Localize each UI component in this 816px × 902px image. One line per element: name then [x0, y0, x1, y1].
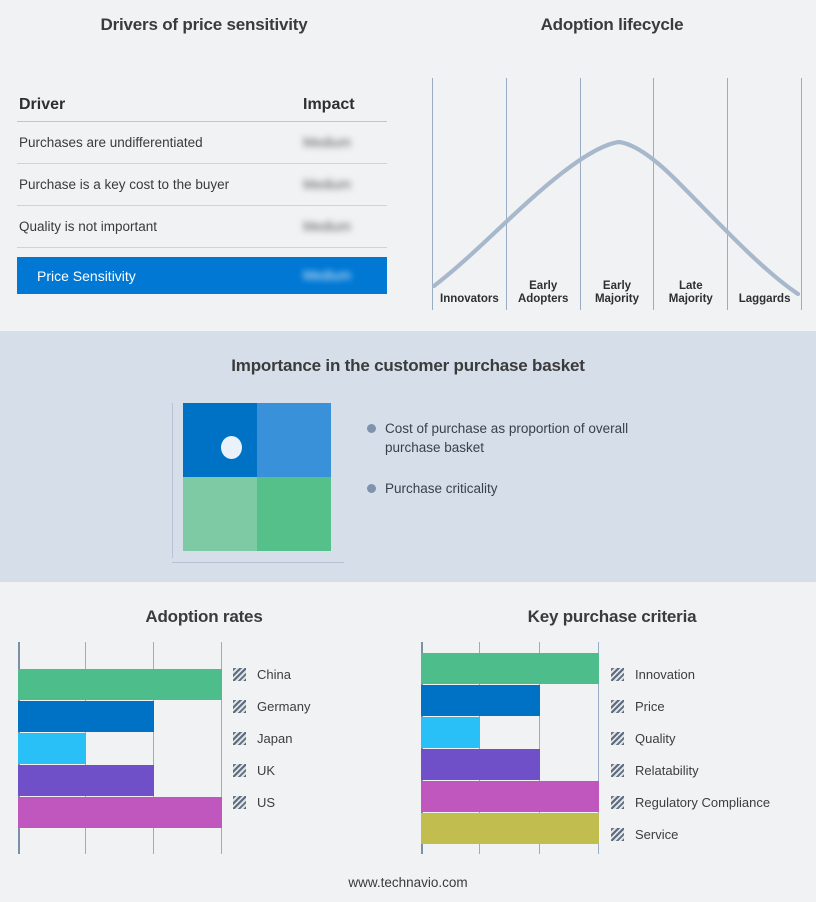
- stage-label-line1: Laggards: [739, 293, 791, 305]
- column-header-impact: Impact: [303, 96, 387, 114]
- summary-impact-value: Medium: [303, 268, 387, 283]
- key-purchase-criteria-plot: [421, 642, 599, 854]
- legend-label: Regulatory Compliance: [635, 795, 770, 810]
- table-row: Quality is not important Medium: [17, 206, 387, 248]
- adoption-rates-plot: [18, 642, 222, 854]
- legend-label: Service: [635, 827, 678, 842]
- matrix-x-axis: [172, 562, 344, 563]
- adoption-rates-title: Adoption rates: [0, 607, 408, 627]
- bar-row: [421, 717, 599, 748]
- stage-label-line2: Majority: [595, 293, 639, 305]
- table-header-row: Driver Impact: [17, 88, 387, 122]
- purchase-basket-matrix: [172, 403, 347, 563]
- legend-label: China: [257, 667, 291, 682]
- key-purchase-criteria-legend: InnovationPriceQualityRelatabilityRegula…: [611, 658, 770, 850]
- bar: [18, 701, 154, 732]
- legend-item: Innovation: [611, 658, 770, 690]
- bar-row: [18, 669, 222, 700]
- quadrant-bottom-left: [183, 477, 257, 551]
- legend-item: Purchase criticality: [367, 479, 677, 498]
- matrix-quadrants: [183, 403, 331, 551]
- bar: [421, 653, 599, 684]
- key-purchase-criteria-panel: Key purchase criteria InnovationPriceQua…: [408, 582, 816, 902]
- bar: [421, 749, 540, 780]
- table-row: Purchases are undifferentiated Medium: [17, 122, 387, 164]
- quadrant-top-right: [257, 403, 331, 477]
- stage-label: Early Adopters: [507, 280, 580, 306]
- quadrant-top-left: [183, 403, 257, 477]
- basket-legend: Cost of purchase as proportion of overal…: [367, 419, 677, 520]
- legend-label: Cost of purchase as proportion of overal…: [385, 419, 677, 457]
- bullet-icon: [367, 424, 376, 433]
- bar-row: [421, 781, 599, 812]
- drivers-table: Driver Impact Purchases are undifferenti…: [17, 88, 387, 294]
- chart-bars: [18, 642, 222, 854]
- impact-value: Medium: [303, 135, 387, 150]
- lifecycle-stage-early-adopters: Early Adopters: [506, 78, 580, 310]
- legend-item: Cost of purchase as proportion of overal…: [367, 419, 677, 457]
- bar: [18, 797, 222, 828]
- quadrant-bottom-right: [257, 477, 331, 551]
- stage-label: Late Majority: [654, 280, 727, 306]
- bar: [421, 685, 540, 716]
- legend-item: Quality: [611, 722, 770, 754]
- chart-bars: [421, 642, 599, 854]
- legend-item: Relatability: [611, 754, 770, 786]
- lifecycle-stage-laggards: Laggards: [727, 78, 802, 310]
- bar-row: [18, 797, 222, 828]
- matrix-y-axis: [172, 403, 173, 558]
- bar-row: [421, 653, 599, 684]
- lifecycle-stage-grid: Innovators Early Adopters Early Majority: [432, 78, 802, 310]
- legend-item: Regulatory Compliance: [611, 786, 770, 818]
- legend-item: UK: [233, 754, 310, 786]
- adoption-rates-panel: Adoption rates ChinaGermanyJapanUKUS: [0, 582, 408, 902]
- price-sensitivity-summary-row: Price Sensitivity Medium: [17, 257, 387, 294]
- lifecycle-stage-innovators: Innovators: [432, 78, 506, 310]
- bar-row: [18, 765, 222, 796]
- impact-value: Medium: [303, 177, 387, 192]
- lifecycle-title: Adoption lifecycle: [408, 15, 816, 35]
- basket-title: Importance in the customer purchase bask…: [0, 356, 816, 376]
- stage-label: Laggards: [728, 293, 801, 306]
- stage-label-line2: Majority: [669, 293, 713, 305]
- stage-label: Early Majority: [581, 280, 654, 306]
- impact-value-text: Medium: [303, 219, 351, 234]
- hatched-swatch-icon: [233, 668, 246, 681]
- bar: [18, 669, 222, 700]
- legend-label: Germany: [257, 699, 310, 714]
- bar: [18, 733, 86, 764]
- stage-label-line1: Early: [603, 280, 631, 292]
- bar: [18, 765, 154, 796]
- impact-value-text: Medium: [303, 177, 351, 192]
- bar: [421, 781, 599, 812]
- hatched-swatch-icon: [611, 828, 624, 841]
- legend-item: US: [233, 786, 310, 818]
- hatched-swatch-icon: [233, 764, 246, 777]
- driver-label: Quality is not important: [17, 219, 303, 234]
- lifecycle-stage-late-majority: Late Majority: [653, 78, 727, 310]
- legend-label: Relatability: [635, 763, 699, 778]
- hatched-swatch-icon: [611, 700, 624, 713]
- lifecycle-plot: Innovators Early Adopters Early Majority: [432, 78, 802, 311]
- driver-label: Purchases are undifferentiated: [17, 135, 303, 150]
- stage-label: Innovators: [433, 293, 506, 306]
- legend-label: Purchase criticality: [385, 479, 498, 498]
- hatched-swatch-icon: [233, 732, 246, 745]
- bar: [421, 813, 599, 844]
- lifecycle-stage-early-majority: Early Majority: [580, 78, 654, 310]
- stage-label-line1: Early: [529, 280, 557, 292]
- legend-item: Germany: [233, 690, 310, 722]
- hatched-swatch-icon: [611, 668, 624, 681]
- adoption-rates-legend: ChinaGermanyJapanUKUS: [233, 658, 310, 818]
- infographic-page: Drivers of price sensitivity Driver Impa…: [0, 0, 816, 902]
- hatched-swatch-icon: [233, 796, 246, 809]
- hatched-swatch-icon: [611, 732, 624, 745]
- bar-row: [18, 701, 222, 732]
- impact-value-text: Medium: [303, 135, 351, 150]
- position-dot-icon: [221, 436, 242, 459]
- table-row: Purchase is a key cost to the buyer Medi…: [17, 164, 387, 206]
- legend-label: UK: [257, 763, 275, 778]
- drivers-title: Drivers of price sensitivity: [0, 15, 408, 35]
- stage-label-line1: Innovators: [440, 293, 499, 305]
- bar-row: [421, 813, 599, 844]
- driver-label: Purchase is a key cost to the buyer: [17, 177, 303, 192]
- legend-label: Quality: [635, 731, 675, 746]
- footer-url: www.technavio.com: [0, 875, 816, 890]
- legend-item: Japan: [233, 722, 310, 754]
- impact-value: Medium: [303, 219, 387, 234]
- bullet-icon: [367, 484, 376, 493]
- summary-label: Price Sensitivity: [37, 268, 303, 284]
- bar-row: [421, 749, 599, 780]
- stage-label-line1: Late: [679, 280, 703, 292]
- legend-label: Price: [635, 699, 665, 714]
- adoption-lifecycle-panel: Adoption lifecycle Innovators Early Adop…: [408, 0, 816, 330]
- stage-label-line2: Adopters: [518, 293, 568, 305]
- purchase-basket-panel: Importance in the customer purchase bask…: [0, 331, 816, 582]
- hatched-swatch-icon: [233, 700, 246, 713]
- bar-row: [18, 733, 222, 764]
- drivers-panel: Drivers of price sensitivity Driver Impa…: [0, 0, 408, 330]
- column-header-driver: Driver: [17, 96, 303, 114]
- legend-item: Service: [611, 818, 770, 850]
- bar: [421, 717, 480, 748]
- legend-label: Innovation: [635, 667, 695, 682]
- hatched-swatch-icon: [611, 796, 624, 809]
- legend-item: Price: [611, 690, 770, 722]
- legend-label: Japan: [257, 731, 292, 746]
- legend-item: China: [233, 658, 310, 690]
- legend-label: US: [257, 795, 275, 810]
- summary-impact-text: Medium: [303, 268, 351, 283]
- bar-row: [421, 685, 599, 716]
- key-purchase-criteria-title: Key purchase criteria: [408, 607, 816, 627]
- hatched-swatch-icon: [611, 764, 624, 777]
